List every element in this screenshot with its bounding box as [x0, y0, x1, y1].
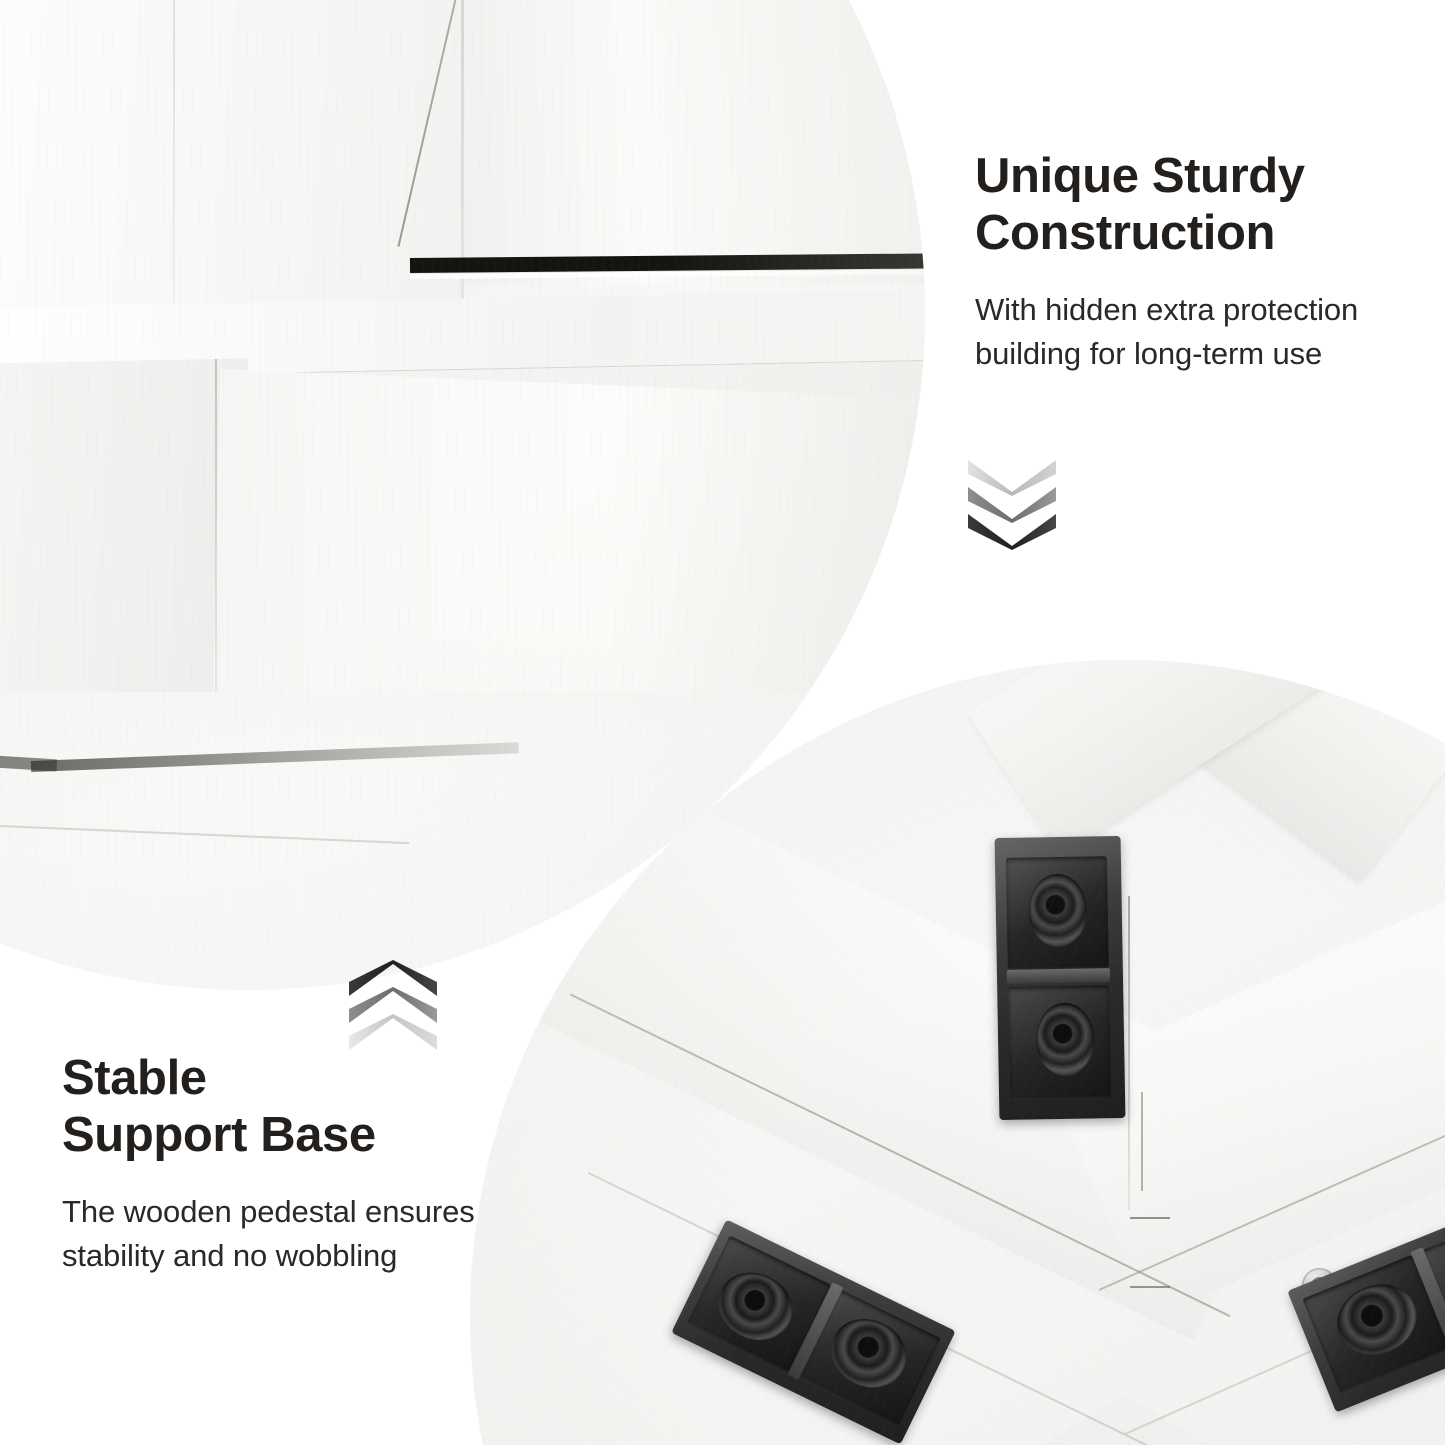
cabinet-left-door-panel: [0, 0, 464, 319]
feature-block-sturdy-construction: Unique Sturdy Construction With hidden e…: [975, 148, 1405, 376]
feature-body-sturdy-construction: With hidden extra protection building fo…: [975, 288, 1405, 376]
frame-brad-mark-2: [1130, 1286, 1169, 1288]
chevron-down-icon-3: [966, 512, 1058, 552]
frame-apex-seam: [1128, 896, 1130, 1210]
underside-corner-brackets-photo-content: [470, 660, 1445, 1445]
chevron-up-icon-3: [347, 1012, 439, 1052]
feature-heading-sturdy-construction: Unique Sturdy Construction: [975, 148, 1405, 263]
frame-pin-line: [1141, 1092, 1143, 1190]
feature-heading-stable-support-base: Stable Support Base: [62, 1050, 512, 1165]
chevron-up-arrows: [347, 958, 439, 1052]
infographic-canvas: Unique Sturdy Construction With hidden e…: [0, 0, 1445, 1445]
bracket-screw-hole-a: [1027, 873, 1086, 947]
cabinet-drawer-front: [464, 0, 925, 285]
underside-corner-brackets-photo: [470, 660, 1445, 1445]
frame-brad-mark-1: [1130, 1217, 1169, 1219]
bracket-rib: [1007, 968, 1110, 984]
feature-block-stable-support-base: Stable Support Base The wooden pedestal …: [62, 1050, 512, 1278]
feature-body-stable-support-base: The wooden pedestal ensures stability an…: [62, 1190, 512, 1278]
corner-bracket-apex: [994, 836, 1125, 1120]
chevron-down-arrows: [966, 458, 1058, 552]
door-stile-line: [173, 0, 175, 319]
